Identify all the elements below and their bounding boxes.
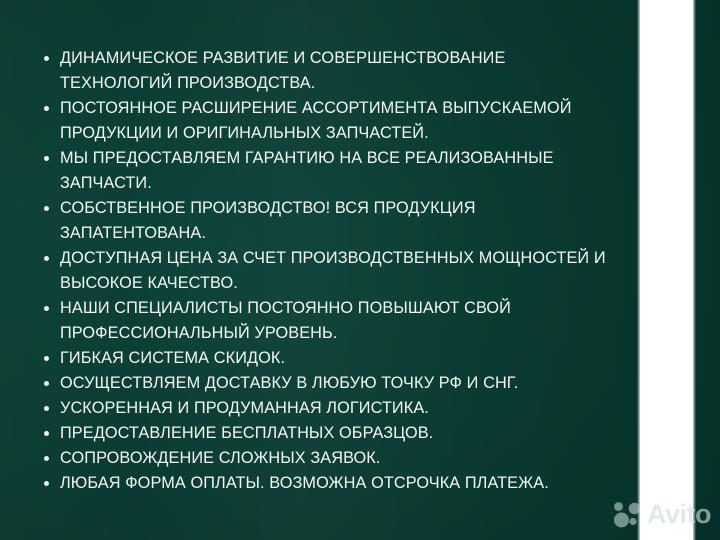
advantages-bullet-list: ДИНАМИЧЕСКОЕ РАЗВИТИЕ И СОВЕРШЕНСТВОВАНИ… (40, 46, 610, 496)
list-item: СОПРОВОЖДЕНИЕ СЛОЖНЫХ ЗАЯВОК. (40, 446, 610, 471)
list-item: ДОСТУПНАЯ ЦЕНА ЗА СЧЕТ ПРОИЗВОДСТВЕННЫХ … (40, 246, 610, 296)
bullet-dot-icon (44, 56, 49, 61)
decorative-white-band (640, 0, 693, 540)
bullet-dot-icon (44, 481, 49, 486)
list-item-text: ПРЕДОСТАВЛЕНИЕ БЕСПЛАТНЫХ ОБРАЗЦОВ. (60, 421, 610, 446)
bullet-dot-icon (44, 456, 49, 461)
bullet-dot-icon (44, 406, 49, 411)
list-item-text: ПОСТОЯННОЕ РАСШИРЕНИЕ АССОРТИМЕНТА ВЫПУС… (60, 96, 610, 146)
bullet-dot-icon (44, 156, 49, 161)
list-item: УСКОРЕННАЯ И ПРОДУМАННАЯ ЛОГИСТИКА. (40, 396, 610, 421)
list-item: ОСУЩЕСТВЛЯЕМ ДОСТАВКУ В ЛЮБУЮ ТОЧКУ РФ И… (40, 371, 610, 396)
band-right-edge (693, 0, 696, 540)
list-item-text: ОСУЩЕСТВЛЯЕМ ДОСТАВКУ В ЛЮБУЮ ТОЧКУ РФ И… (60, 371, 610, 396)
list-item-text: ЛЮБАЯ ФОРМА ОПЛАТЫ. ВОЗМОЖНА ОТСРОЧКА ПЛ… (60, 471, 610, 496)
bullet-dot-icon (44, 256, 49, 261)
bullet-dot-icon (44, 431, 49, 436)
list-item-text: СОБСТВЕННОЕ ПРОИЗВОДСТВО! ВСЯ ПРОДУКЦИЯ … (60, 196, 610, 246)
list-item: ГИБКАЯ СИСТЕМА СКИДОК. (40, 346, 610, 371)
list-item-text: СОПРОВОЖДЕНИЕ СЛОЖНЫХ ЗАЯВОК. (60, 446, 610, 471)
bullet-dot-icon (44, 206, 49, 211)
bullet-dot-icon (44, 356, 49, 361)
bullet-dot-icon (44, 106, 49, 111)
list-item: ПРЕДОСТАВЛЕНИЕ БЕСПЛАТНЫХ ОБРАЗЦОВ. (40, 421, 610, 446)
list-item-text: ДИНАМИЧЕСКОЕ РАЗВИТИЕ И СОВЕРШЕНСТВОВАНИ… (60, 46, 610, 96)
list-item-text: НАШИ СПЕЦИАЛИСТЫ ПОСТОЯННО ПОВЫШАЮТ СВОЙ… (60, 296, 610, 346)
bullet-dot-icon (44, 381, 49, 386)
list-item: ЛЮБАЯ ФОРМА ОПЛАТЫ. ВОЗМОЖНА ОТСРОЧКА ПЛ… (40, 471, 610, 496)
list-item: НАШИ СПЕЦИАЛИСТЫ ПОСТОЯННО ПОВЫШАЮТ СВОЙ… (40, 296, 610, 346)
list-item-text: ДОСТУПНАЯ ЦЕНА ЗА СЧЕТ ПРОИЗВОДСТВЕННЫХ … (60, 246, 610, 296)
list-item-text: ГИБКАЯ СИСТЕМА СКИДОК. (60, 346, 610, 371)
list-item: МЫ ПРЕДОСТАВЛЯЕМ ГАРАНТИЮ НА ВСЕ РЕАЛИЗО… (40, 146, 610, 196)
list-item: ДИНАМИЧЕСКОЕ РАЗВИТИЕ И СОВЕРШЕНСТВОВАНИ… (40, 46, 610, 96)
bullet-dot-icon (44, 306, 49, 311)
band-left-edge (637, 0, 640, 540)
presentation-slide: ДИНАМИЧЕСКОЕ РАЗВИТИЕ И СОВЕРШЕНСТВОВАНИ… (0, 0, 720, 540)
list-item-text: МЫ ПРЕДОСТАВЛЯЕМ ГАРАНТИЮ НА ВСЕ РЕАЛИЗО… (60, 146, 610, 196)
list-item: ПОСТОЯННОЕ РАСШИРЕНИЕ АССОРТИМЕНТА ВЫПУС… (40, 96, 610, 146)
list-item-text: УСКОРЕННАЯ И ПРОДУМАННАЯ ЛОГИСТИКА. (60, 396, 610, 421)
list-item: СОБСТВЕННОЕ ПРОИЗВОДСТВО! ВСЯ ПРОДУКЦИЯ … (40, 196, 610, 246)
